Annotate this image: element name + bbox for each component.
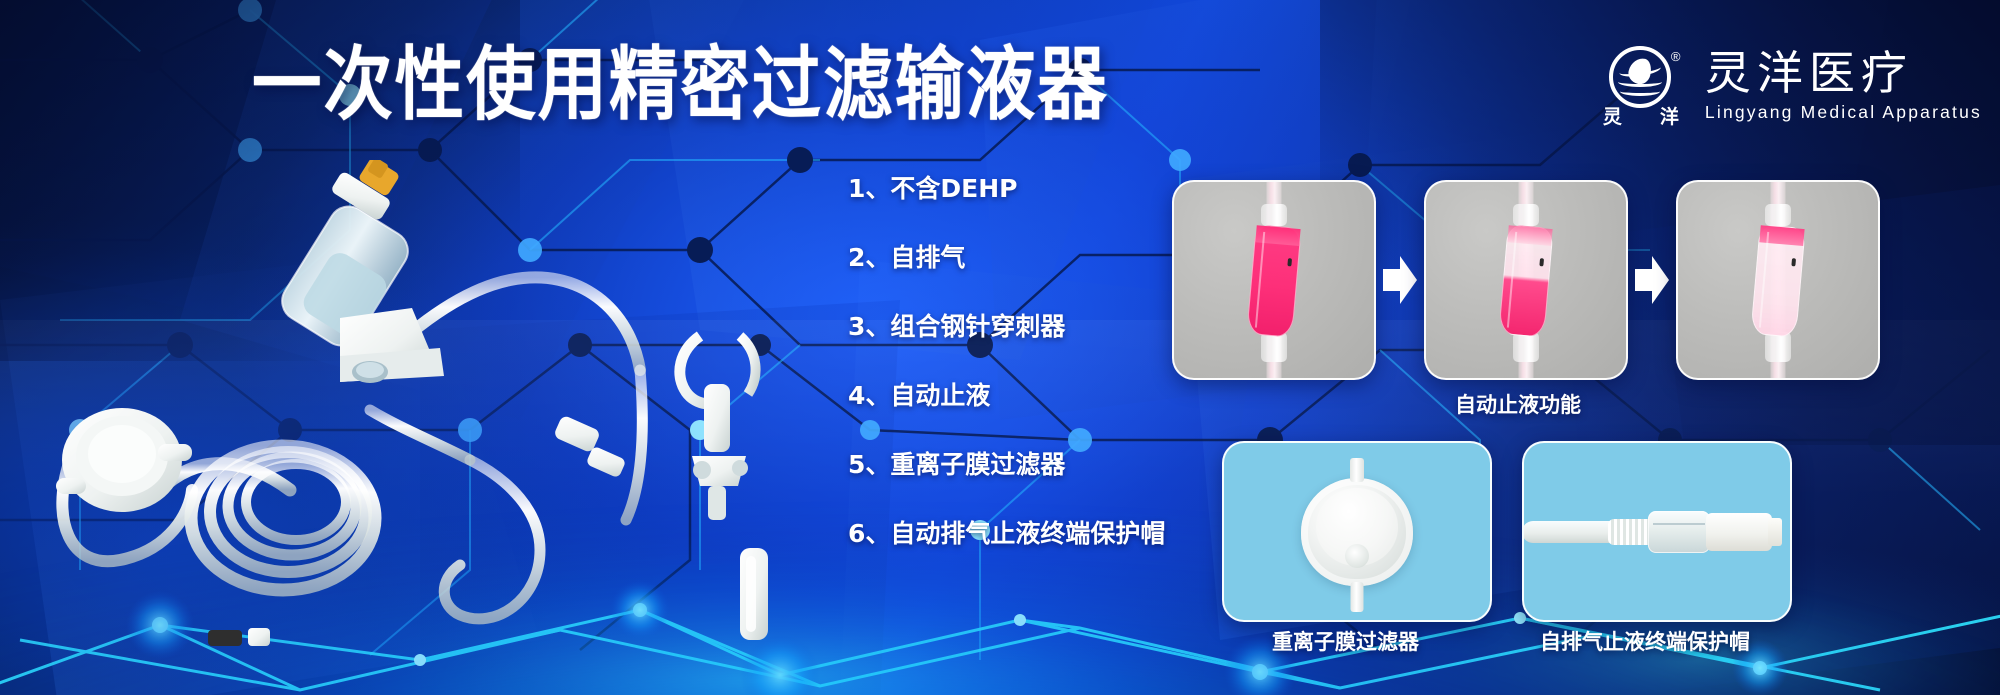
sequence-photo-1	[1172, 180, 1376, 380]
feature-item-6: 6、自动排气止液终端保护帽	[848, 521, 1178, 546]
card-photo-filter	[1222, 441, 1492, 622]
needle-assembly	[680, 336, 756, 520]
feature-item-2: 2、自排气	[848, 245, 1178, 270]
sequence-arrow-1-icon	[1383, 256, 1417, 304]
brand-name-en: Lingyang Medical Apparatus	[1705, 102, 1982, 123]
logo-mark-cn-left: 灵	[1603, 108, 1622, 127]
brand-logo: ® 灵 洋 灵洋医疗 Lingyang Medical Apparatus	[1601, 44, 1982, 130]
feature-item-1: 1、不含DEHP	[848, 176, 1178, 201]
drip-chamber-empty-icon	[1750, 224, 1805, 338]
sequence-arrow-2-icon	[1635, 256, 1669, 304]
card-caption-filter: 重离子膜过滤器	[1272, 632, 1419, 653]
logo-emblem-icon: ® 灵 洋	[1601, 44, 1687, 130]
hero-product-image	[40, 160, 800, 660]
infusion-set-illustration	[40, 160, 800, 660]
drip-chamber-half-icon	[1498, 224, 1553, 338]
sequence-photo-2	[1424, 180, 1628, 380]
inline-filter	[56, 408, 192, 512]
feature-list: 1、不含DEHP 2、自排气 3、组合钢针穿刺器 4、自动止液 5、重离子膜过滤…	[848, 176, 1178, 546]
brand-wordmark: 灵洋医疗 Lingyang Medical Apparatus	[1705, 49, 1982, 125]
feature-item-5: 5、重离子膜过滤器	[848, 452, 1178, 477]
feature-item-4: 4、自动止液	[848, 383, 1178, 408]
heavy-ion-membrane-filter-icon	[1301, 478, 1413, 586]
sequence-photo-3	[1676, 180, 1880, 380]
drip-chamber-full-icon	[1246, 224, 1301, 338]
brand-name-cn: 灵洋医疗	[1705, 49, 1982, 97]
registered-mark-icon: ®	[1671, 50, 1681, 63]
card-caption-cap: 自排气止液终端保护帽	[1540, 632, 1750, 653]
card-photo-cap	[1522, 441, 1792, 622]
logo-mark-cn-right: 洋	[1660, 108, 1679, 127]
feature-item-3: 3、组合钢针穿刺器	[848, 314, 1178, 339]
protective-cap	[740, 548, 768, 640]
roller-clamp	[336, 308, 444, 384]
terminal-protective-cap-icon	[1522, 505, 1792, 559]
product-banner: 一次性使用精密过滤输液器 ® 灵 洋 灵洋医疗 Lingyang Medical…	[0, 0, 2000, 695]
sequence-caption: 自动止液功能	[1455, 395, 1581, 416]
banner-title-text: 一次性使用精密过滤输液器	[252, 46, 1109, 126]
banner-title: 一次性使用精密过滤输液器	[252, 44, 1042, 128]
